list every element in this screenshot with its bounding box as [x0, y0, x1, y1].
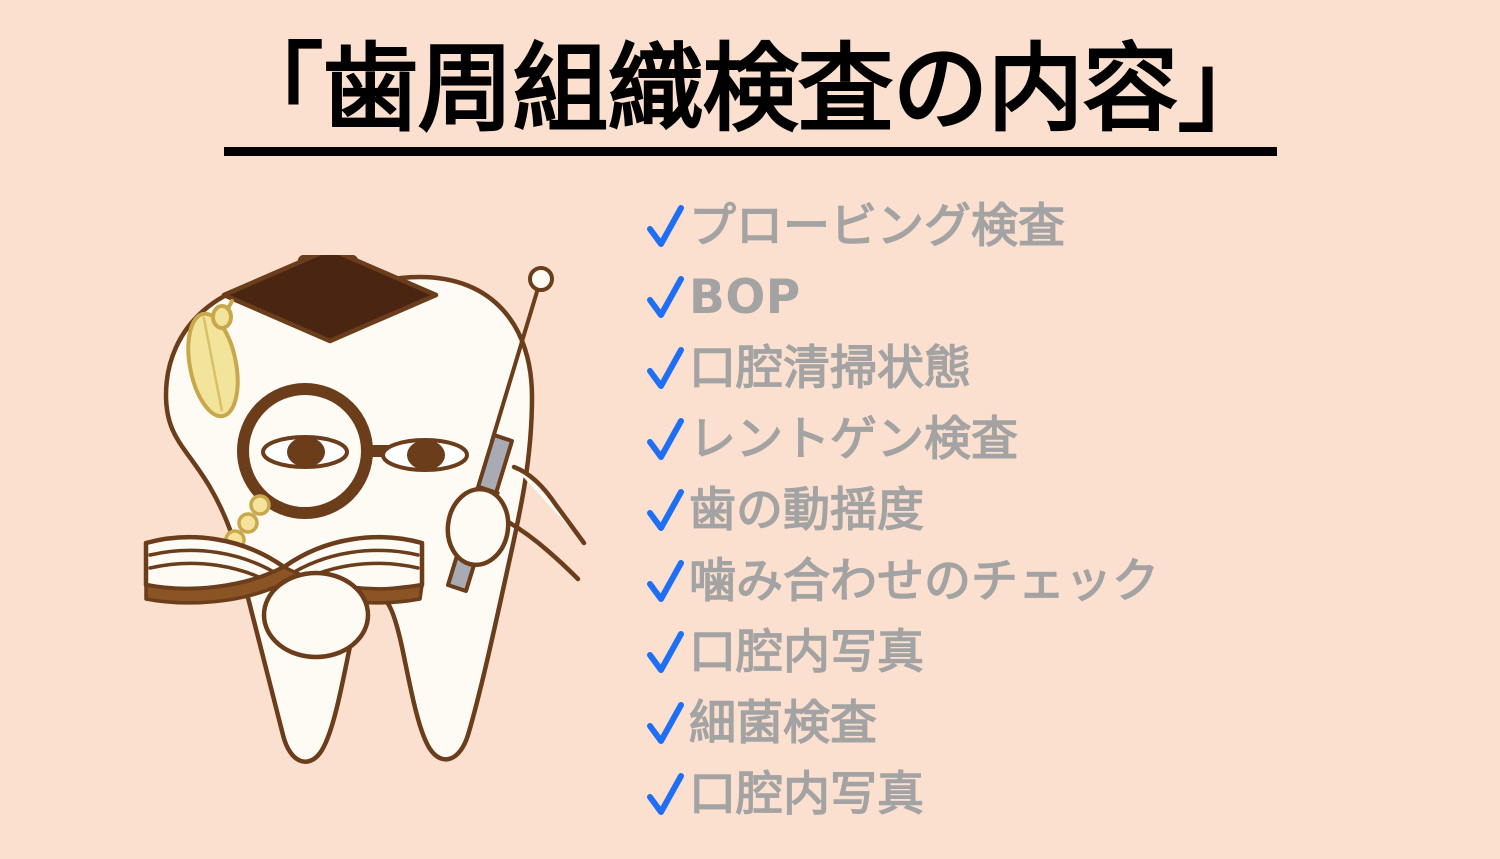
- list-item-label: 口腔内写真: [689, 627, 924, 679]
- check-mark-icon: [645, 769, 685, 821]
- check-mark-icon: [645, 627, 685, 679]
- list-item[interactable]: レントゲン検査: [645, 404, 1465, 475]
- list-item[interactable]: 噛み合わせのチェック: [645, 546, 1465, 617]
- list-item-label: BOP: [689, 272, 801, 324]
- list-item-label: 噛み合わせのチェック: [689, 556, 1159, 608]
- eye-right: [383, 440, 467, 470]
- mouth: [264, 573, 368, 657]
- list-item-label: 口腔内写真: [689, 769, 924, 821]
- list-item-label: プロービング検査: [689, 201, 1065, 253]
- list-item[interactable]: 口腔清掃状態: [645, 333, 1465, 404]
- list-item[interactable]: 細菌検査: [645, 688, 1465, 759]
- tooth-professor-illustration: [120, 255, 590, 795]
- list-item[interactable]: 口腔内写真: [645, 617, 1465, 688]
- check-mark-icon: [645, 698, 685, 750]
- page-title: 「歯周組織検査の内容」: [224, 34, 1277, 156]
- checklist: プロービング検査 BOP 口腔清掃状態 レントゲン検査 歯の動揺度: [645, 191, 1465, 830]
- list-item[interactable]: BOP: [645, 262, 1465, 333]
- list-item-label: 歯の動揺度: [689, 485, 924, 537]
- check-mark-icon: [645, 414, 685, 466]
- check-mark-icon: [645, 485, 685, 537]
- list-item[interactable]: プロービング検査: [645, 191, 1465, 262]
- list-item-label: 口腔清掃状態: [689, 343, 971, 395]
- check-mark-icon: [645, 272, 685, 324]
- check-mark-icon: [645, 556, 685, 608]
- list-item-label: 細菌検査: [689, 698, 877, 750]
- check-mark-icon: [645, 201, 685, 253]
- title-block: 「歯周組織検査の内容」: [0, 34, 1500, 156]
- list-item[interactable]: 歯の動揺度: [645, 475, 1465, 546]
- eye-left: [263, 437, 347, 467]
- list-item[interactable]: 口腔内写真: [645, 759, 1465, 830]
- check-mark-icon: [645, 343, 685, 395]
- list-item-label: レントゲン検査: [689, 414, 1018, 466]
- slide-canvas: 「歯周組織検査の内容」: [0, 0, 1500, 859]
